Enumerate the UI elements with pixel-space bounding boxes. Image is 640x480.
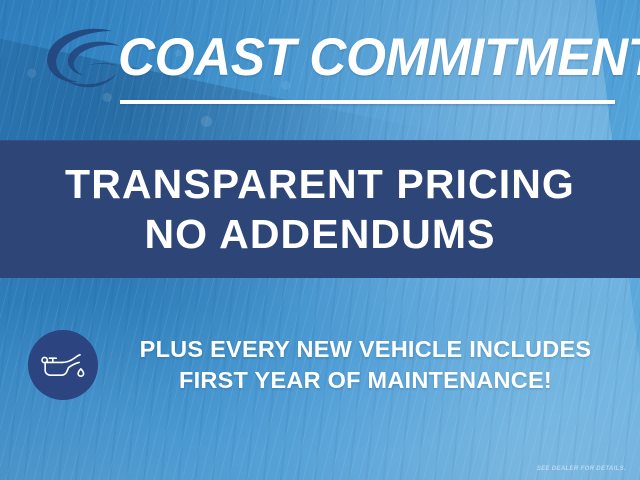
offer-section: PLUS EVERY NEW VEHICLE INCLUDES FIRST YE… — [0, 325, 640, 405]
promise-line-1: TRANSPARENT PRICING — [65, 159, 575, 209]
offer-line-1: PLUS EVERY NEW VEHICLE INCLUDES — [115, 334, 616, 365]
offer-line-2: FIRST YEAR OF MAINTENANCE! — [115, 365, 616, 396]
header-divider — [120, 100, 615, 104]
brand-title: COAST COMMITMENT — [118, 22, 609, 92]
coast-commitment-banner: COAST COMMITMENT TRANSPARENT PRICING NO … — [0, 0, 640, 480]
promise-line-2: NO ADDENDUMS — [144, 209, 495, 259]
promise-band: TRANSPARENT PRICING NO ADDENDUMS — [0, 140, 640, 278]
banner-header: COAST COMMITMENT — [0, 0, 640, 140]
offer-text-block: PLUS EVERY NEW VEHICLE INCLUDES FIRST YE… — [115, 334, 616, 397]
oil-can-icon — [28, 330, 98, 400]
disclaimer-text: SEE DEALER FOR DETAILS. — [537, 466, 626, 472]
coast-wave-logo-icon — [34, 22, 130, 96]
